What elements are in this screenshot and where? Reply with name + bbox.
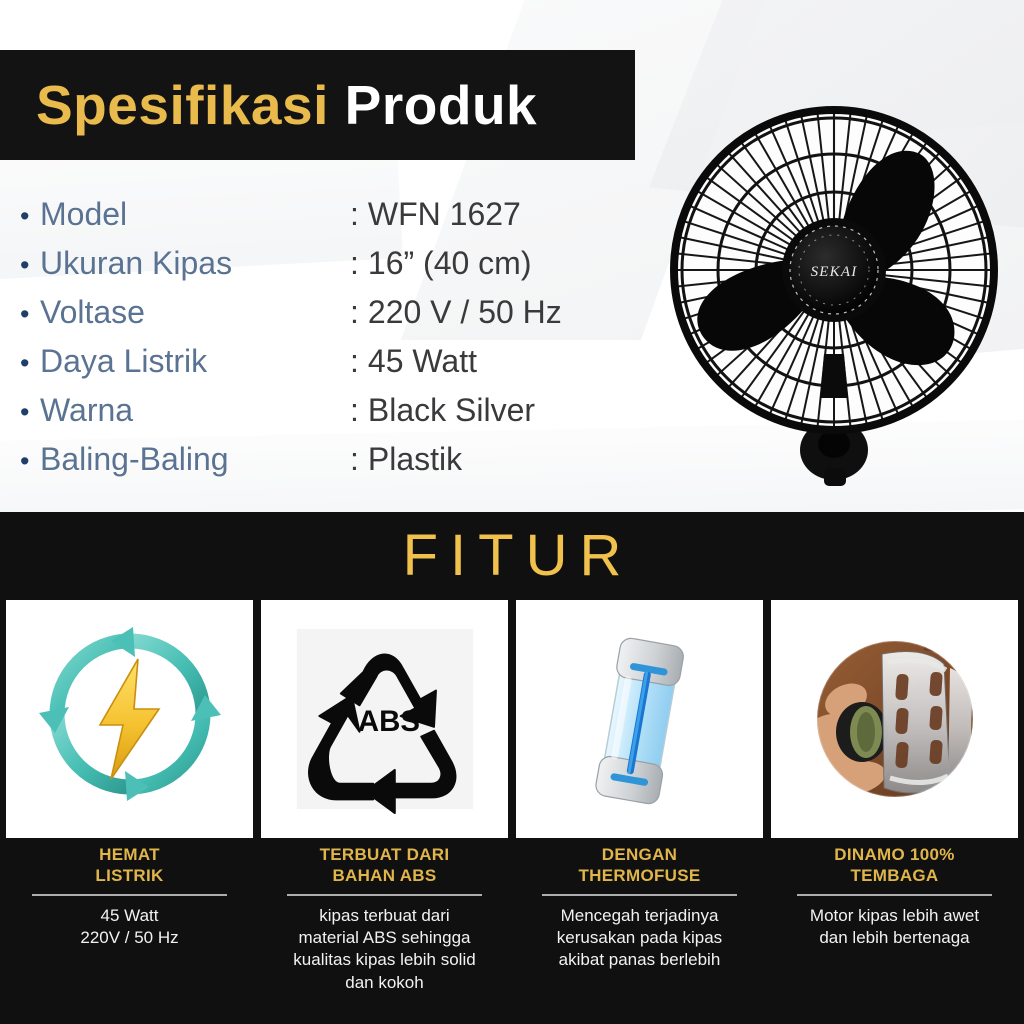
specification-list: • Model :WFN 1627 • Ukuran Kipas :16” (4… bbox=[14, 196, 654, 490]
spec-row: • Warna :Black Silver bbox=[14, 392, 654, 441]
spec-row: • Model :WFN 1627 bbox=[14, 196, 654, 245]
page-title-primary: Spesifikasi bbox=[36, 74, 329, 136]
spec-row: • Daya Listrik :45 Watt bbox=[14, 343, 654, 392]
caption-body: Mencegah terjadinya kerusakan pada kipas… bbox=[557, 905, 722, 972]
spec-label: Baling-Baling bbox=[40, 441, 350, 478]
abs-label: ABS bbox=[357, 705, 419, 738]
page-title-secondary bbox=[329, 74, 345, 136]
feature-caption-hemat-listrik: HEMAT LISTRIK 45 Watt 220V / 50 Hz bbox=[6, 840, 253, 1024]
colon-separator: : bbox=[350, 196, 359, 232]
caption-divider bbox=[287, 894, 482, 896]
abs-recycle-icon: ABS bbox=[287, 621, 483, 817]
thermofuse-icon bbox=[565, 619, 715, 819]
spec-value: :Black Silver bbox=[350, 392, 535, 429]
spec-value: :WFN 1627 bbox=[350, 196, 521, 233]
caption-title: TERBUAT DARI BAHAN ABS bbox=[320, 844, 450, 887]
bullet-icon: • bbox=[14, 252, 40, 279]
spec-value: :Plastik bbox=[350, 441, 462, 478]
spec-row: • Ukuran Kipas :16” (40 cm) bbox=[14, 245, 654, 294]
product-spec-infographic: Spesifikasi Produk • Model :WFN 1627 • U… bbox=[0, 0, 1024, 1024]
colon-separator: : bbox=[350, 392, 359, 428]
feature-caption-bahan-abs: TERBUAT DARI BAHAN ABS kipas terbuat dar… bbox=[261, 840, 508, 1024]
caption-title: HEMAT LISTRIK bbox=[95, 844, 163, 887]
fan-neck bbox=[820, 354, 848, 398]
feature-card-dinamo-tembaga bbox=[771, 600, 1018, 838]
feature-cards-row: ABS bbox=[0, 600, 1024, 838]
feature-caption-thermofuse: DENGAN THERMOFUSE Mencegah terjadinya ke… bbox=[516, 840, 763, 1024]
spec-value-text: 220 V / 50 Hz bbox=[368, 294, 562, 330]
page-title: Spesifikasi Produk bbox=[0, 78, 537, 133]
caption-divider bbox=[32, 894, 227, 896]
feature-card-hemat-listrik bbox=[6, 600, 253, 838]
spec-value: :16” (40 cm) bbox=[350, 245, 531, 282]
fitur-label: FITUR bbox=[391, 527, 634, 585]
feature-caption-dinamo-tembaga: DINAMO 100% TEMBAGA Motor kipas lebih aw… bbox=[771, 840, 1018, 1024]
spec-row: • Voltase :220 V / 50 Hz bbox=[14, 294, 654, 343]
spec-value-text: WFN 1627 bbox=[368, 196, 521, 232]
spec-value-text: Black Silver bbox=[368, 392, 535, 428]
feature-card-bahan-abs: ABS bbox=[261, 600, 508, 838]
colon-separator: : bbox=[350, 294, 359, 330]
bullet-icon: • bbox=[14, 350, 40, 377]
colon-separator: : bbox=[350, 441, 359, 477]
colon-separator: : bbox=[350, 245, 359, 281]
caption-divider bbox=[797, 894, 992, 896]
feature-card-thermofuse bbox=[516, 600, 763, 838]
spec-value: :220 V / 50 Hz bbox=[350, 294, 562, 331]
spec-label: Ukuran Kipas bbox=[40, 245, 350, 282]
spec-value-text: Plastik bbox=[368, 441, 462, 477]
spec-value-text: 45 Watt bbox=[368, 343, 477, 379]
wall-fan-photo: SEKAI bbox=[648, 92, 1020, 492]
colon-separator: : bbox=[350, 343, 359, 379]
spec-row: • Baling-Baling :Plastik bbox=[14, 441, 654, 490]
fan-hub: SEKAI bbox=[782, 218, 886, 322]
bullet-icon: • bbox=[14, 399, 40, 426]
specification-section: Spesifikasi Produk • Model :WFN 1627 • U… bbox=[0, 0, 1024, 512]
bullet-icon: • bbox=[14, 448, 40, 475]
bullet-icon: • bbox=[14, 203, 40, 230]
page-title-secondary-text: Produk bbox=[345, 74, 537, 136]
caption-divider bbox=[542, 894, 737, 896]
spec-label: Model bbox=[40, 196, 350, 233]
caption-title: DINAMO 100% TEMBAGA bbox=[834, 844, 954, 887]
caption-body: kipas terbuat dari material ABS sehingga… bbox=[293, 905, 475, 995]
caption-body: Motor kipas lebih awet dan lebih bertena… bbox=[810, 905, 979, 950]
energy-saving-icon bbox=[37, 621, 223, 817]
feature-captions-row: HEMAT LISTRIK 45 Watt 220V / 50 Hz TERBU… bbox=[0, 840, 1024, 1024]
wall-fan-illustration: SEKAI bbox=[648, 92, 1020, 492]
spec-title-bar: Spesifikasi Produk bbox=[0, 50, 635, 160]
spec-label: Warna bbox=[40, 392, 350, 429]
spec-value: :45 Watt bbox=[350, 343, 477, 380]
lightning-bolt-icon bbox=[100, 659, 159, 779]
caption-body: 45 Watt 220V / 50 Hz bbox=[80, 905, 178, 950]
caption-title: DENGAN THERMOFUSE bbox=[579, 844, 701, 887]
copper-motor-photo-icon bbox=[804, 628, 986, 810]
fitur-banner: FITUR bbox=[0, 512, 1024, 600]
spec-label: Voltase bbox=[40, 294, 350, 331]
bullet-icon: • bbox=[14, 301, 40, 328]
fan-hub-brand: SEKAI bbox=[811, 264, 858, 280]
spec-label: Daya Listrik bbox=[40, 343, 350, 380]
spec-value-text: 16” (40 cm) bbox=[368, 245, 532, 281]
